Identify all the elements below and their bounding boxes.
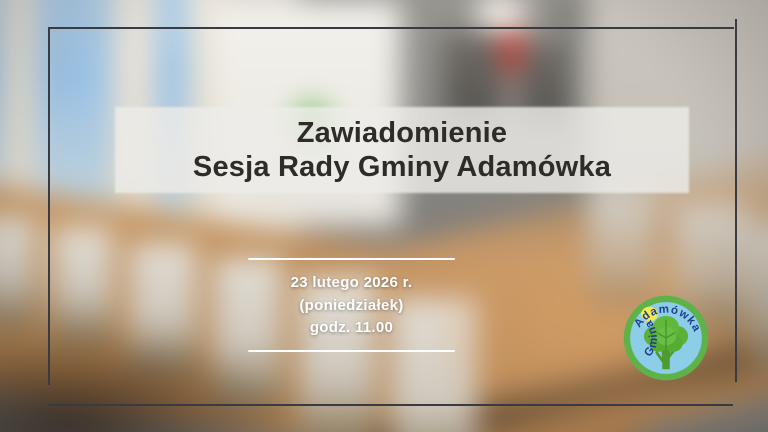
event-details-block: 23 lutego 2026 r. (poniedziałek) godz. 1… xyxy=(247,258,456,352)
headline-subtitle: Sesja Rady Gminy Adamówka xyxy=(193,151,611,183)
frame-border-bottom xyxy=(48,404,733,406)
event-details-text: 23 lutego 2026 r. (poniedziałek) godz. 1… xyxy=(291,274,413,337)
event-date: 23 lutego 2026 r. xyxy=(291,274,413,292)
divider-rule-top xyxy=(248,258,455,260)
frame-border-top xyxy=(48,27,734,29)
headline-title: Zawiadomienie xyxy=(297,117,508,149)
headline-block: Zawiadomienie Sesja Rady Gminy Adamówka xyxy=(115,107,689,193)
announcement-poster: Zawiadomienie Sesja Rady Gminy Adamówka … xyxy=(0,0,768,432)
frame-border-left xyxy=(48,27,50,385)
event-weekday: (poniedziałek) xyxy=(299,297,403,315)
frame-border-right xyxy=(735,19,737,382)
divider-rule-bottom xyxy=(248,350,455,352)
gmina-adamowka-logo: Adamówka Gmina xyxy=(620,292,712,384)
event-time: godz. 11.00 xyxy=(310,319,393,337)
